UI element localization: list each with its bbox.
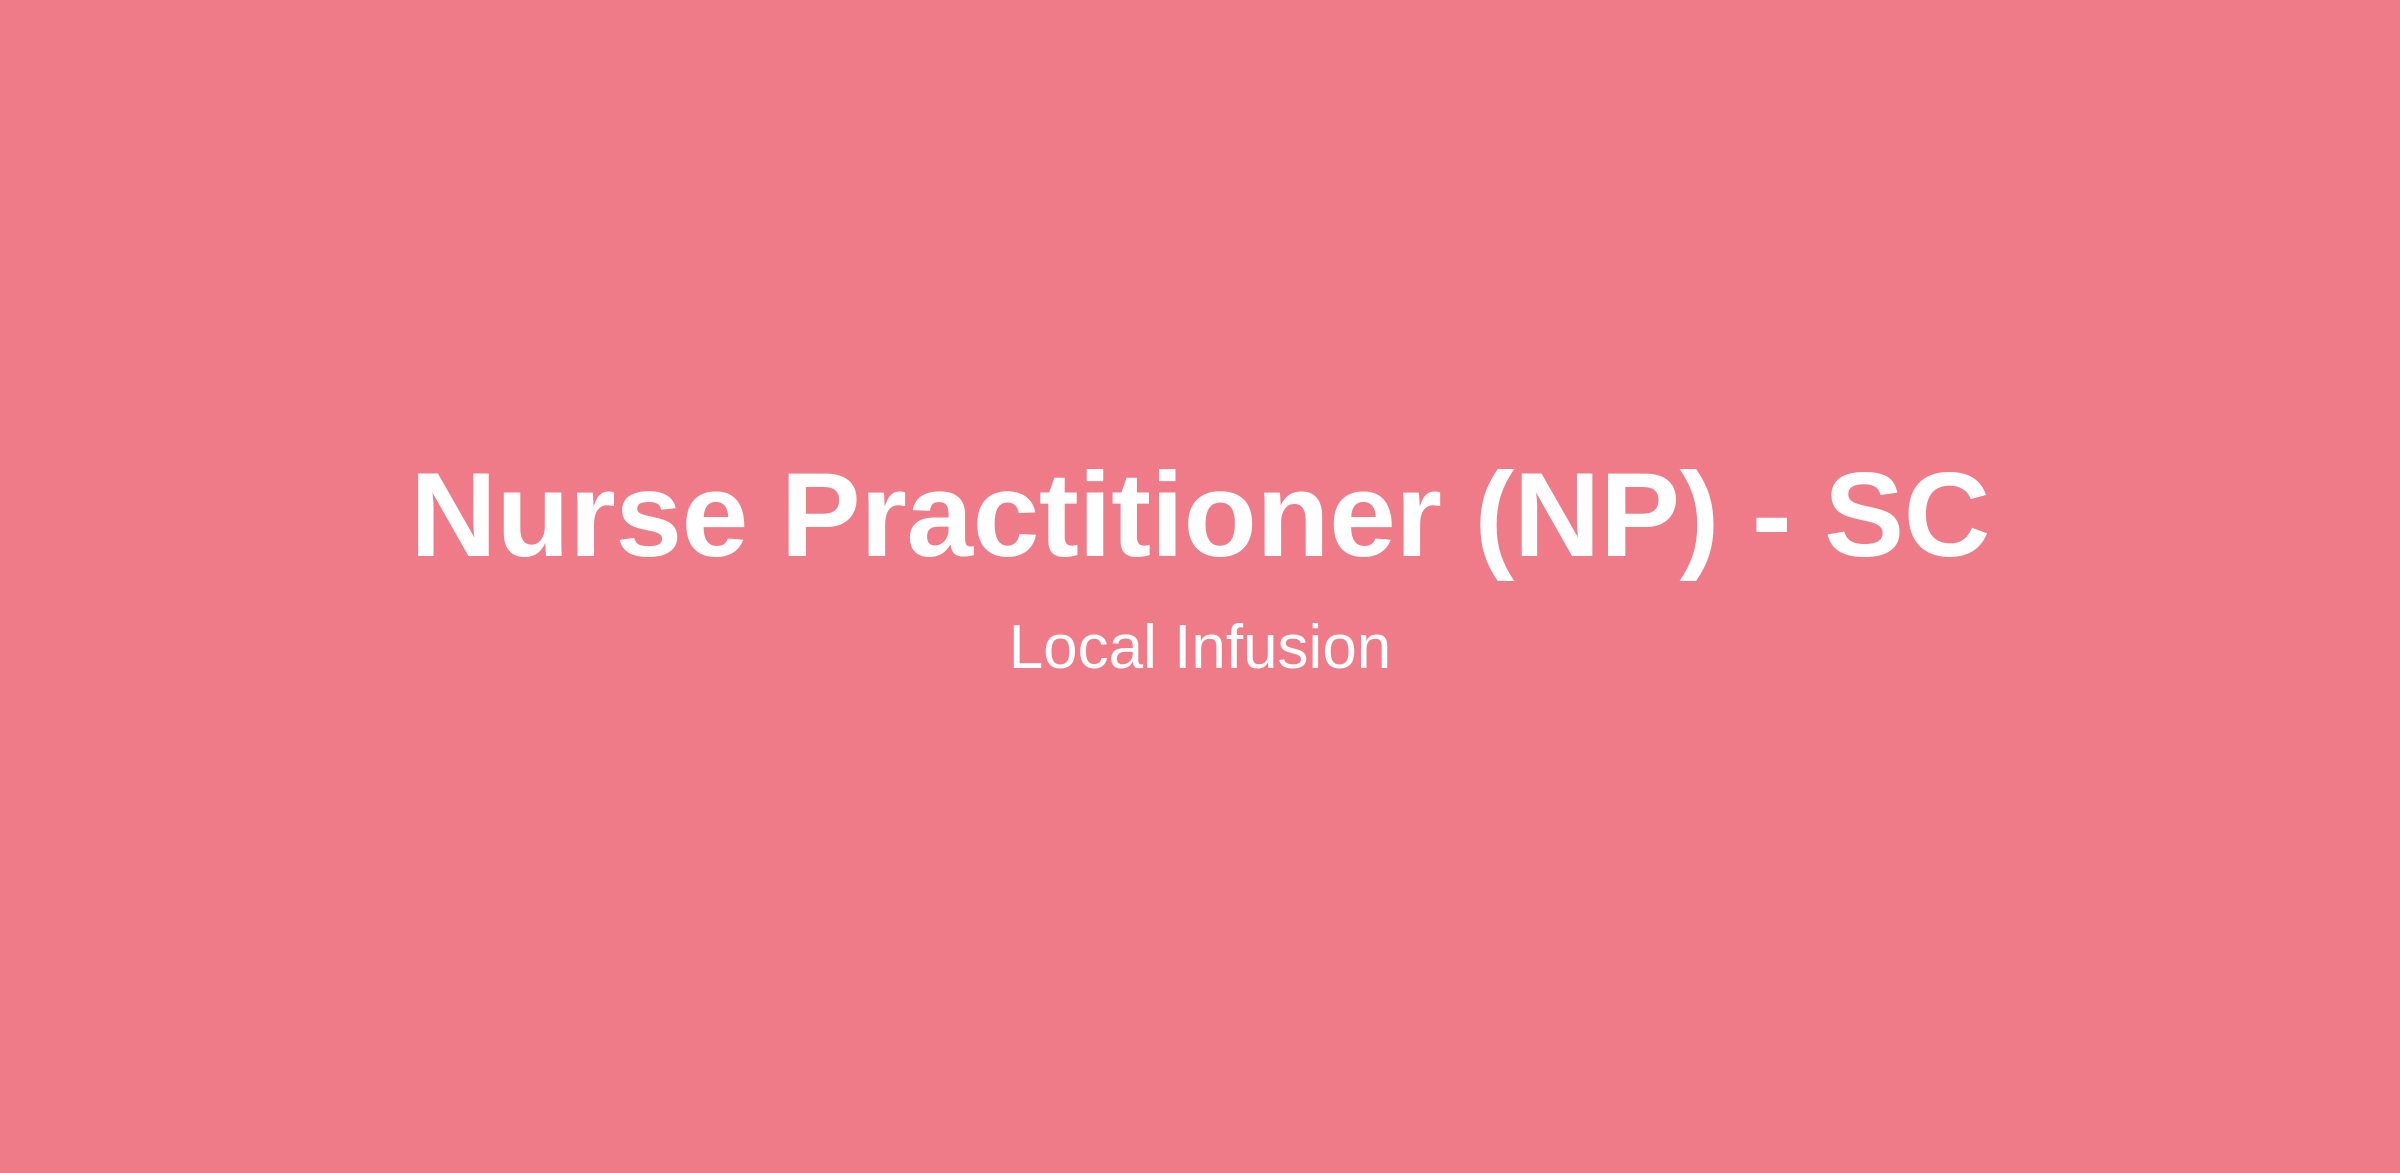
hero-text-block: Nurse Practitioner (NP) - SC Local Infus… [0, 452, 2400, 686]
page-subtitle: Local Infusion [1009, 611, 1392, 685]
page-title: Nurse Practitioner (NP) - SC [410, 452, 1990, 579]
job-posting-hero-banner: Nurse Practitioner (NP) - SC Local Infus… [0, 0, 2400, 1173]
